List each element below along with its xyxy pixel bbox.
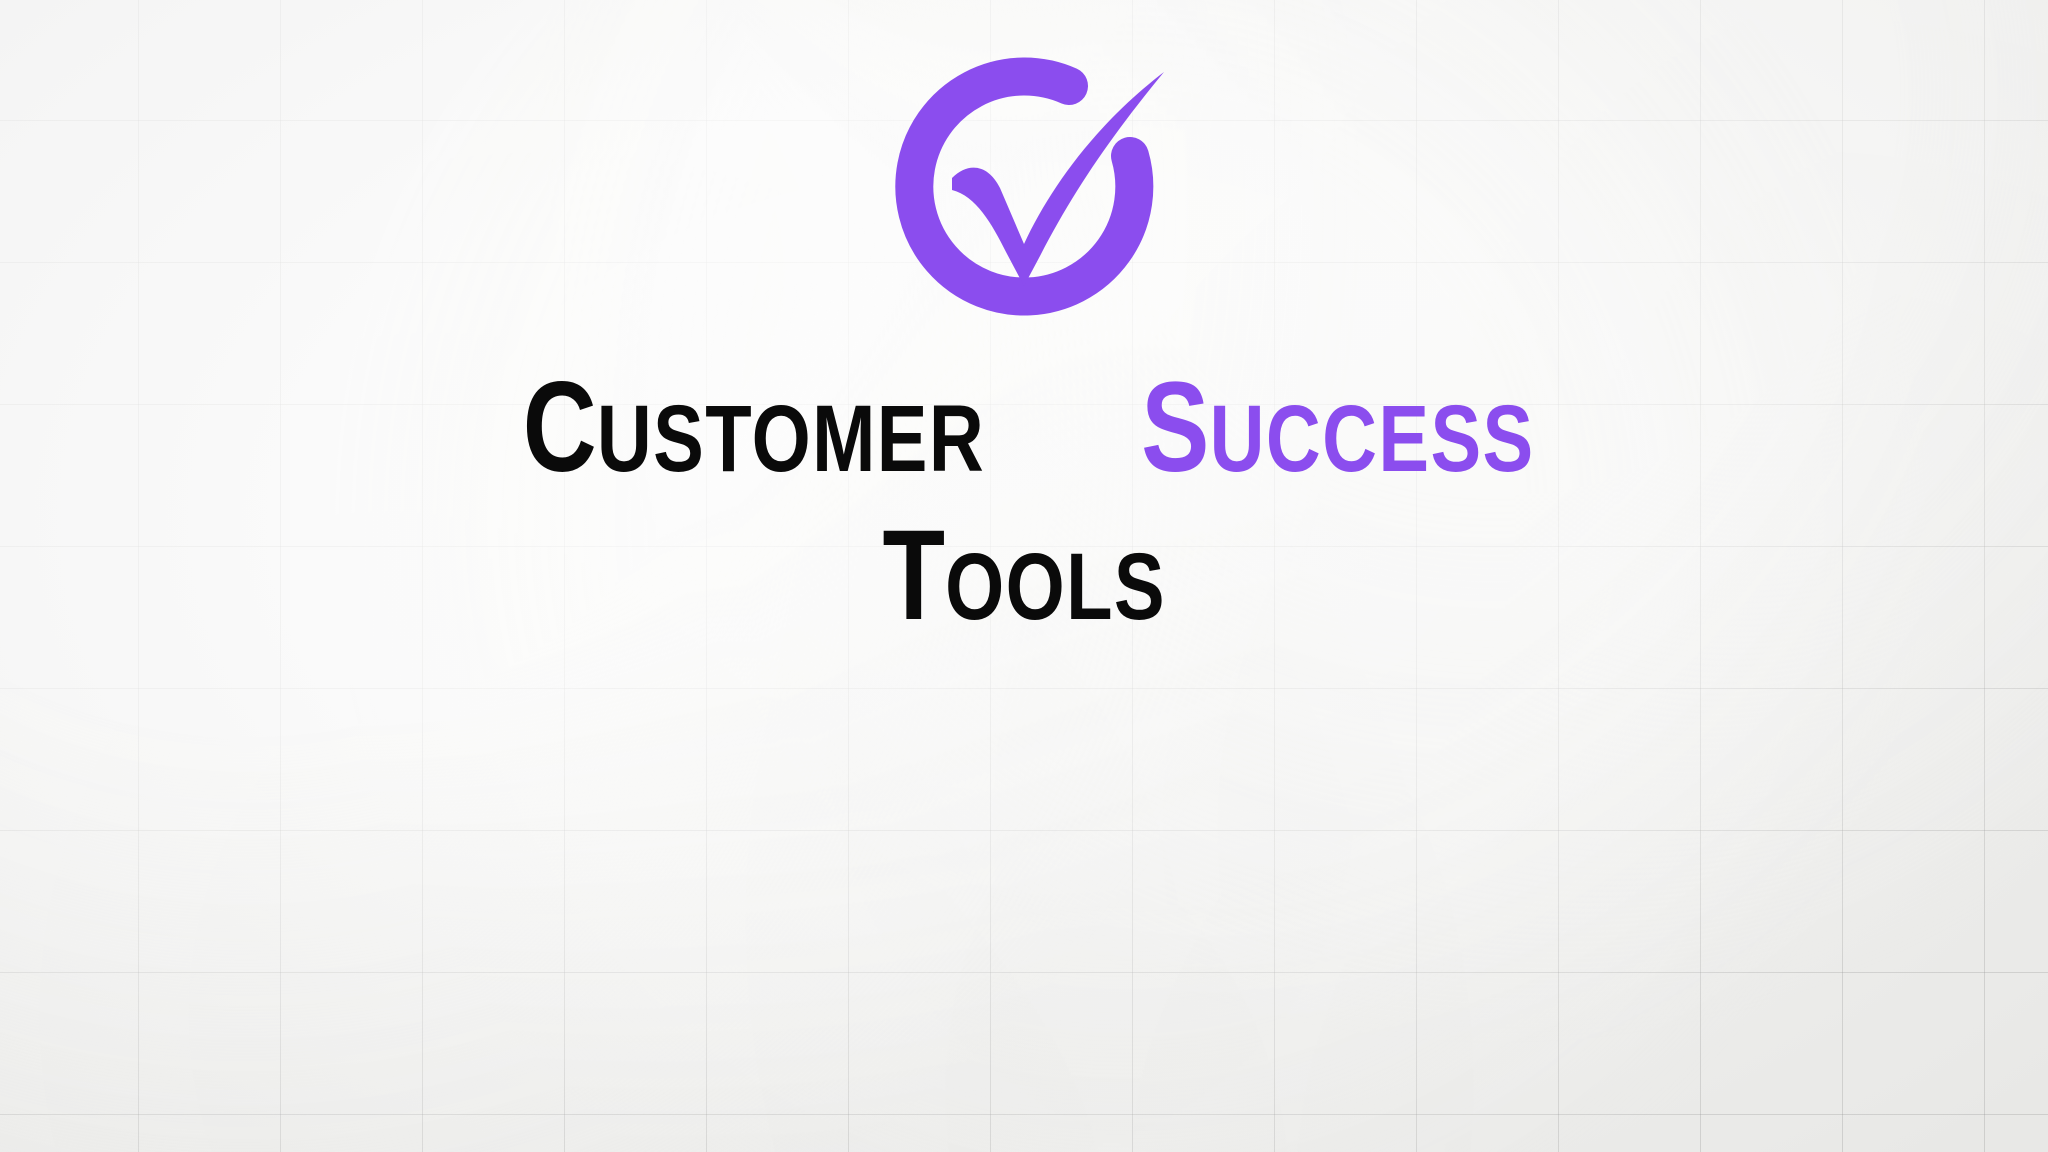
title-line-2: TOOLS (0, 512, 2048, 640)
title-word-tools-rest: OOLS (945, 534, 1166, 640)
title-word-success: SUCCESS (1141, 364, 1534, 492)
title-word-tools: TOOLS (882, 512, 1166, 640)
title-card: CUSTOMER SUCCESS TOOLS (0, 0, 2048, 1152)
circle-check-icon (864, 38, 1184, 338)
title-word-tools-cap: T (882, 504, 945, 647)
title-word-customer-cap: C (522, 356, 596, 499)
title-line-1: CUSTOMER SUCCESS (0, 364, 2048, 492)
title-word-success-rest: UCCESS (1209, 386, 1534, 492)
title-word-success-cap: S (1141, 356, 1209, 499)
title-word-customer: CUSTOMER (522, 364, 984, 492)
logo (864, 38, 1184, 338)
page-title: CUSTOMER SUCCESS TOOLS (0, 364, 2048, 640)
card-content: CUSTOMER SUCCESS TOOLS (0, 0, 2048, 1152)
title-word-customer-rest: USTOMER (596, 386, 984, 492)
